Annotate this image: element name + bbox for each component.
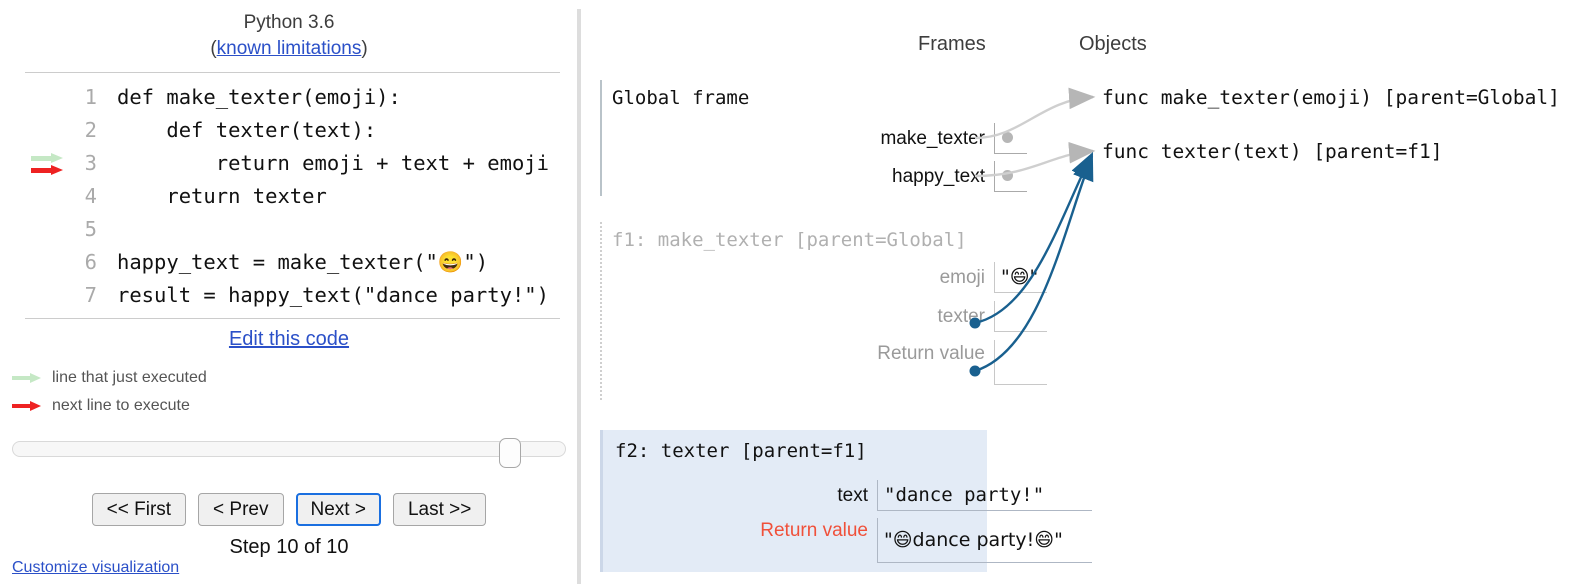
frame-f1-title: f1: make_texter [parent=Global] <box>602 222 1000 251</box>
legend-next-line: next line to execute <box>12 395 190 417</box>
legend-red-arrow-icon <box>12 401 44 411</box>
code-line[interactable]: 2 def texter(text): <box>25 114 560 147</box>
line-number: 3 <box>69 147 97 180</box>
variable-row-happy-text: happy_text <box>833 161 1027 192</box>
variable-name: emoji <box>833 267 994 289</box>
code-line[interactable]: 7 result = happy_text("dance party!") <box>25 279 560 312</box>
customize-visualization-link[interactable]: Customize visualization <box>12 559 179 576</box>
line-code: def make_texter(emoji): <box>97 81 401 114</box>
step-counter-label: Step 10 of 10 <box>0 536 578 559</box>
line-arrow-gutter <box>25 180 69 213</box>
python-version-header: Python 3.6 (known limitations) <box>0 10 578 62</box>
step-slider[interactable] <box>12 438 566 460</box>
code-block: 1 def make_texter(emoji): 2 def texter(t… <box>25 72 560 319</box>
legend-next-line-label: next line to execute <box>52 397 190 414</box>
first-button[interactable]: << First <box>92 493 186 526</box>
variable-name: Return value <box>833 340 994 365</box>
limitations-close-paren: ) <box>361 38 367 59</box>
frame-f1: f1: make_texter [parent=Global] emoji "😄… <box>600 222 1000 400</box>
variable-value-box: "dance party!" <box>877 480 1092 511</box>
variable-row-make-texter: make_texter <box>833 123 1027 154</box>
edit-this-code-link[interactable]: Edit this code <box>229 328 349 350</box>
legend-just-executed: line that just executed <box>12 367 207 389</box>
variable-name: happy_text <box>833 166 994 188</box>
last-button[interactable]: Last >> <box>393 493 486 526</box>
line-arrow-gutter <box>25 81 69 114</box>
line-arrow-gutter <box>25 246 69 279</box>
pointer-dot-icon <box>1002 132 1013 143</box>
variable-value-box: "😄dance party!😄" <box>877 518 1092 563</box>
line-number: 1 <box>69 81 97 114</box>
line-number: 2 <box>69 114 97 147</box>
customize-visualization: Customize visualization <box>12 559 179 577</box>
just-executed-arrow-icon <box>31 153 65 163</box>
frame-global: Global frame make_texter happy_text <box>600 80 1000 196</box>
variable-value-box <box>994 340 1047 385</box>
variable-name: make_texter <box>833 128 994 150</box>
step-slider-track[interactable] <box>12 441 566 457</box>
variable-row-emoji: emoji "😄" <box>833 262 1047 293</box>
prev-button[interactable]: < Prev <box>198 493 283 526</box>
frame-global-title: Global frame <box>602 80 1000 109</box>
objects-column-heading: Objects <box>1079 33 1147 56</box>
visualization-pane: Frames Objects Global frame make_texter … <box>581 0 1580 584</box>
variable-value-box <box>994 301 1047 332</box>
variable-row-return-value: Return value <box>833 340 1047 371</box>
line-arrow-gutter <box>25 147 69 180</box>
line-arrow-gutter <box>25 213 69 246</box>
variable-name: texter <box>833 306 994 328</box>
code-line[interactable]: 1 def make_texter(emoji): <box>25 81 560 114</box>
next-button[interactable]: Next > <box>296 493 381 526</box>
frames-column-heading: Frames <box>918 33 986 56</box>
variable-value-box <box>994 161 1027 192</box>
code-line-current[interactable]: 3 return emoji + text + emoji <box>25 147 560 180</box>
code-line[interactable]: 4 return texter <box>25 180 560 213</box>
line-code: def texter(text): <box>97 114 376 147</box>
python-tutor-visualizer: Python 3.6 (known limitations) 1 def mak… <box>0 0 1580 584</box>
known-limitations-line: (known limitations) <box>0 36 578 62</box>
variable-value-box: "😄" <box>994 262 1047 293</box>
known-limitations-link[interactable]: known limitations <box>217 38 362 59</box>
frame-f2: f2: texter [parent=f1] text "dance party… <box>600 430 987 572</box>
next-line-arrow-icon <box>31 165 65 175</box>
line-arrow-gutter <box>25 114 69 147</box>
frame-f2-title: f2: texter [parent=f1] <box>603 430 987 462</box>
edit-this-code: Edit this code <box>0 328 578 351</box>
legend-green-arrow-icon <box>12 373 44 383</box>
step-slider-handle[interactable] <box>499 438 521 468</box>
object-func-texter: func texter(text) [parent=f1] <box>1102 140 1442 163</box>
line-number: 5 <box>69 213 97 246</box>
line-code: return texter <box>97 180 327 213</box>
code-line[interactable]: 5 <box>25 213 560 246</box>
variable-name: Return value <box>716 518 877 543</box>
line-number: 6 <box>69 246 97 279</box>
line-number: 7 <box>69 279 97 312</box>
variable-name: text <box>716 485 877 507</box>
legend-just-executed-label: line that just executed <box>52 369 207 386</box>
variable-row-return-value: Return value "😄dance party!😄" <box>716 518 1092 549</box>
line-code: return emoji + text + emoji <box>97 147 549 180</box>
line-number: 4 <box>69 180 97 213</box>
line-arrow-gutter <box>25 279 69 312</box>
variable-row-texter: texter <box>833 301 1047 332</box>
object-func-make-texter: func make_texter(emoji) [parent=Global] <box>1102 86 1560 109</box>
variable-value-box <box>994 123 1027 154</box>
variable-row-text: text "dance party!" <box>716 480 1092 511</box>
code-line[interactable]: 6 happy_text = make_texter("😄") <box>25 246 560 279</box>
python-version-label: Python 3.6 <box>0 10 578 36</box>
navigation-buttons: << First < Prev Next > Last >> <box>0 493 578 526</box>
code-pane: Python 3.6 (known limitations) 1 def mak… <box>0 0 578 584</box>
line-code: happy_text = make_texter("😄") <box>97 246 488 279</box>
pointer-dot-icon <box>1002 170 1013 181</box>
line-code: result = happy_text("dance party!") <box>97 279 549 312</box>
